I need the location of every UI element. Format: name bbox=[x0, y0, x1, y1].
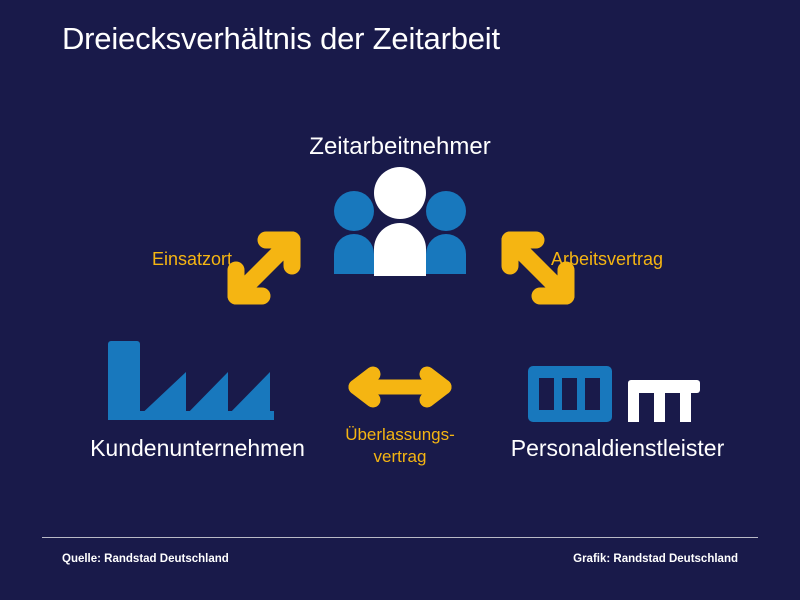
footer-credit-text: Grafik: Randstad Deutschland bbox=[573, 553, 738, 565]
building-arcade-white bbox=[628, 380, 700, 422]
node-label-kundenunternehmen: Kundenunternehmen bbox=[20, 435, 375, 462]
page-title: Dreiecksverhältnis der Zeitarbeit bbox=[62, 21, 500, 57]
node-label-personaldienstleister: Personaldienstleister bbox=[440, 435, 795, 462]
relation-label-line-2: vertrag bbox=[374, 447, 427, 466]
node-label-zeitarbeitnehmer: Zeitarbeitnehmer bbox=[0, 133, 800, 161]
building-block-blue bbox=[528, 366, 612, 422]
footer-divider bbox=[42, 537, 758, 538]
slide-canvas: Dreiecksverhältnis der Zeitarbeit Zeitar… bbox=[0, 0, 800, 600]
factory-icon bbox=[108, 341, 274, 426]
double-arrow-diagonal-up-left-icon bbox=[488, 218, 588, 323]
double-arrow-horizontal-icon bbox=[340, 366, 460, 413]
three-people-icon bbox=[332, 166, 468, 281]
double-arrow-diagonal-up-right-icon bbox=[214, 218, 314, 323]
footer-source-text: Quelle: Randstad Deutschland bbox=[62, 553, 229, 565]
office-building-icon bbox=[528, 366, 700, 427]
